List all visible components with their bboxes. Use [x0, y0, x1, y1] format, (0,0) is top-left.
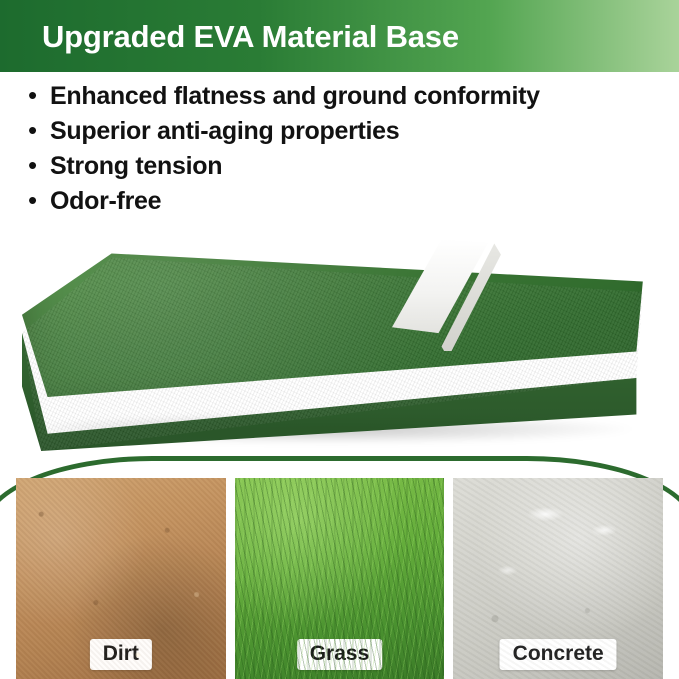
product-infographic: Upgraded EVA Material Base • Enhanced fl… — [0, 0, 679, 679]
list-item: • Enhanced flatness and ground conformit… — [28, 80, 668, 112]
surface-label: Grass — [297, 639, 383, 670]
list-item: • Superior anti-aging properties — [28, 115, 668, 147]
surface-label: Concrete — [500, 639, 617, 670]
bullet-dot-icon: • — [28, 115, 50, 145]
feature-text: Odor-free — [50, 185, 161, 217]
surfaces-panel: Dirt Grass Concrete — [0, 456, 679, 679]
list-item: • Strong tension — [28, 150, 668, 182]
surface-tile-concrete: Concrete — [453, 478, 663, 679]
page-title: Upgraded EVA Material Base — [42, 21, 459, 52]
feature-text: Strong tension — [50, 150, 222, 182]
surface-tile-dirt: Dirt — [16, 478, 226, 679]
header-banner: Upgraded EVA Material Base — [0, 0, 679, 72]
bullet-dot-icon: • — [28, 80, 50, 110]
bullet-dot-icon: • — [28, 185, 50, 215]
surface-tiles: Dirt Grass Concrete — [16, 478, 663, 679]
feature-text: Superior anti-aging properties — [50, 115, 399, 147]
eva-base-illustration — [22, 236, 662, 451]
list-item: • Odor-free — [28, 185, 668, 217]
feature-text: Enhanced flatness and ground conformity — [50, 80, 540, 112]
surface-label: Dirt — [90, 639, 152, 670]
bullet-dot-icon: • — [28, 150, 50, 180]
surface-tile-grass: Grass — [235, 478, 445, 679]
product-image — [0, 228, 679, 456]
feature-list: • Enhanced flatness and ground conformit… — [28, 80, 668, 220]
